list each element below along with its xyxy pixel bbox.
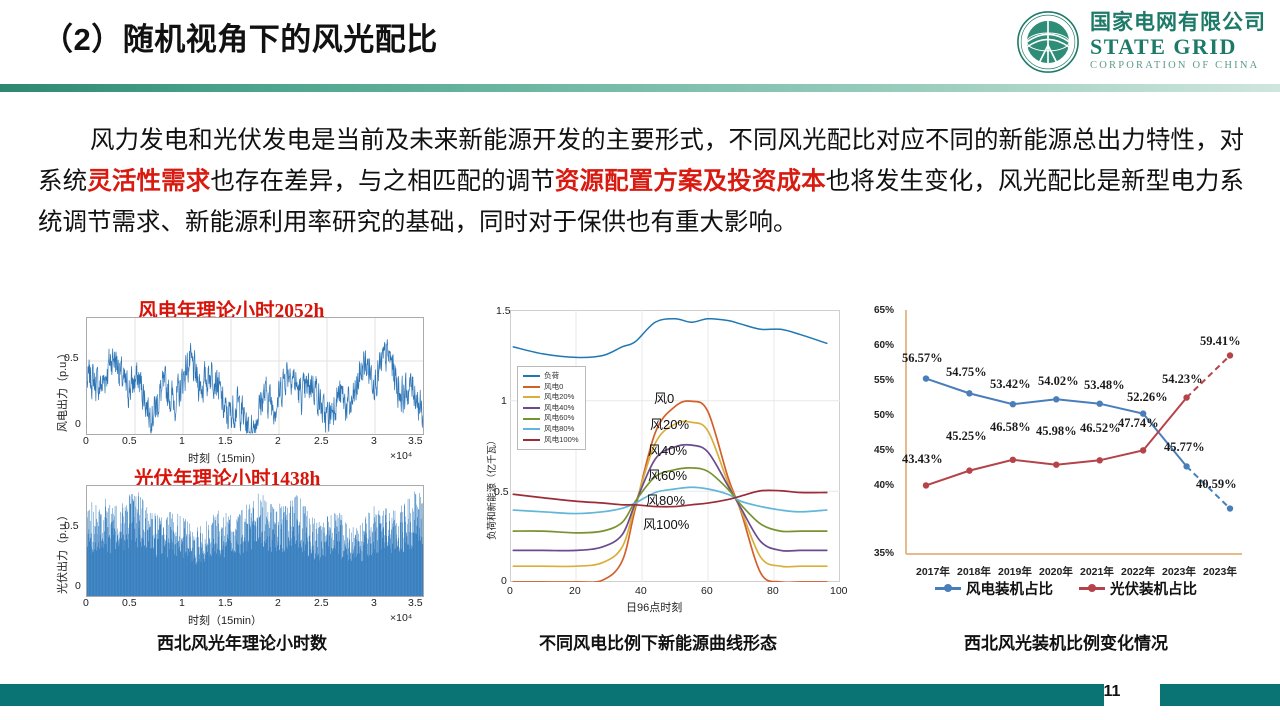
fig3-pv-label-4: 46.52% — [1080, 421, 1121, 436]
fig1-pv-ytick-0: 0 — [75, 580, 81, 592]
figure-newenergy-curve-shapes: 负荷和新能源（亿千瓦） 1.5 1 0.5 0 0 20 40 60 80 10… — [468, 292, 848, 662]
fig3-ytick-65: 65% — [874, 305, 894, 316]
legend-swatch-wind20 — [523, 396, 540, 398]
fig2-annotation-2: 风40% — [648, 440, 687, 459]
fig1-pv-xtick-0: 0 — [83, 597, 89, 609]
fig3-xcat-2: 2019年 — [998, 564, 1032, 579]
fig3-legend-item-wind: 风电装机占比 — [935, 578, 1053, 599]
paragraph-highlight-1: 灵活性需求 — [87, 168, 210, 195]
fig1-wind-plot-area — [86, 317, 424, 435]
fig2-annotation-0: 风0 — [654, 388, 674, 407]
fig1-pv-xlabel: 时刻（15min） — [188, 612, 262, 628]
figure-northwest-annual-hours: 风电年理论小时2052h 风电出力（p.u.） 0.5 0 0 0.5 — [42, 292, 442, 662]
fig1-wind-xtick-3: 1.5 — [218, 435, 233, 447]
fig1-pv-series — [87, 486, 423, 596]
logo-company-en: STATE GRID — [1090, 36, 1266, 58]
legend-label-wind60: 风电60% — [544, 413, 574, 424]
paragraph-highlight-3: 资源配置方案及投资成本 — [555, 168, 826, 195]
fig1-pv-xtick-3: 1.5 — [218, 597, 233, 609]
legend-label-wind40: 风电40% — [544, 403, 574, 414]
fig3-ytick-55: 55% — [874, 375, 894, 386]
fig1-pv-xtick-1: 0.5 — [122, 597, 137, 609]
fig1-pv-xtick-4: 2 — [275, 597, 281, 609]
fig2-legend-item-6: 风电100% — [523, 435, 579, 446]
fig2-legend-item-2: 风电20% — [523, 392, 579, 403]
fig2-legend: 负荷 风电0 风电20% 风电40% 风电60% 风电80% — [517, 366, 586, 450]
fig3-pv-label-6: 54.23% — [1162, 372, 1203, 387]
body-paragraph: 风力发电和光伏发电是当前及未来新能源开发的主要形式，不同风光配比对应不同的新能源… — [38, 120, 1244, 243]
fig1-wind-xtick-0: 0 — [83, 435, 89, 447]
fig1-wind-ytick-0_5: 0.5 — [64, 352, 79, 364]
legend-dot-wind-share — [944, 584, 952, 592]
fig3-legend-label-pv: 光伏装机占比 — [1110, 578, 1197, 599]
fig2-caption: 不同风电比例下新能源曲线形态 — [468, 629, 848, 654]
fig3-marker-风电装机占比-7 — [1227, 505, 1233, 511]
footer-bar-right — [1160, 684, 1280, 706]
legend-label-wind80: 风电80% — [544, 424, 574, 435]
fig2-legend-item-5: 风电80% — [523, 424, 579, 435]
fig1-wind-xtick-7: 3.5 — [408, 435, 423, 447]
footer: 11 — [0, 684, 1280, 706]
logo-company-sub: CORPORATION OF CHINA — [1090, 61, 1266, 72]
fig3-marker-风电装机占比-4 — [1097, 400, 1103, 406]
fig2-xtick-80: 80 — [767, 585, 779, 597]
fig3-xcat-5: 2022年 — [1121, 564, 1155, 579]
fig2-ytick-0: 0 — [501, 575, 507, 587]
header-divider — [0, 84, 1280, 92]
fig1-wind-ytick-0: 0 — [75, 418, 81, 430]
figure-installed-capacity-share: 65% 60% 55% 50% 45% 40% 35% 2017年 2018年 … — [866, 292, 1266, 662]
fig1-pv-ytick-0_5: 0.5 — [64, 520, 79, 532]
fig3-legend-label-wind: 风电装机占比 — [966, 578, 1053, 599]
fig3-xcat-6: 2023年 — [1162, 564, 1196, 579]
fig1-wind-xtick-1: 0.5 — [122, 435, 137, 447]
fig2-xtick-40: 40 — [635, 585, 647, 597]
fig1-pv-xtick-6: 3 — [371, 597, 377, 609]
legend-label-load: 负荷 — [544, 371, 559, 382]
fig1-wind-x-exponent: ×10⁴ — [390, 450, 412, 462]
fig3-marker-光伏装机占比-7 — [1227, 352, 1233, 358]
legend-swatch-load — [523, 375, 540, 377]
fig3-wind-label-4: 53.48% — [1084, 378, 1125, 393]
fig3-marker-风电装机占比-2 — [1010, 401, 1016, 407]
fig1-pv-x-exponent: ×10⁴ — [390, 612, 412, 624]
paragraph-run-2: 也存在差异，与之相匹配的调节 — [210, 168, 555, 195]
legend-label-wind20: 风电20% — [544, 392, 574, 403]
fig2-ytick-1: 1 — [501, 395, 507, 407]
fig2-annotation-3: 风60% — [648, 465, 687, 484]
fig3-marker-光伏装机占比-1 — [966, 467, 972, 473]
fig3-legend-item-pv: 光伏装机占比 — [1079, 578, 1197, 599]
fig1-wind-xtick-6: 3 — [371, 435, 377, 447]
fig3-marker-风电装机占比-6 — [1183, 463, 1189, 469]
fig3-pv-label-1: 45.25% — [946, 429, 987, 444]
legend-swatch-wind0 — [523, 386, 540, 388]
state-grid-logo: 国家电网有限公司 STATE GRID CORPORATION OF CHINA — [1016, 6, 1266, 78]
fig3-marker-风电装机占比-3 — [1053, 396, 1059, 402]
fig3-pv-label-5: 47.74% — [1118, 416, 1159, 431]
fig3-pv-label-0: 43.43% — [902, 452, 943, 467]
fig3-pv-label-7: 59.41% — [1200, 334, 1241, 349]
logo-company-cn: 国家电网有限公司 — [1090, 12, 1266, 33]
fig3-ytick-60: 60% — [874, 340, 894, 351]
fig2-legend-item-1: 风电0 — [523, 382, 579, 393]
legend-label-wind100: 风电100% — [544, 435, 579, 446]
fig2-xtick-60: 60 — [701, 585, 713, 597]
fig2-annotation-5: 风100% — [643, 514, 689, 533]
fig3-wind-label-6: 45.77% — [1164, 440, 1205, 455]
fig3-wind-label-7: 40.59% — [1196, 477, 1237, 492]
fig3-ytick-40: 40% — [874, 480, 894, 491]
fig2-xtick-0: 0 — [507, 585, 513, 597]
fig1-pv-xtick-2: 1 — [179, 597, 185, 609]
fig3-marker-风电装机占比-1 — [966, 390, 972, 396]
fig3-wind-label-2: 53.42% — [990, 377, 1031, 392]
fig1-wind-xtick-4: 2 — [275, 435, 281, 447]
fig3-marker-风电装机占比-0 — [923, 375, 929, 381]
fig2-legend-item-3: 风电40% — [523, 403, 579, 414]
legend-swatch-wind100 — [523, 439, 540, 441]
fig1-wind-series — [87, 318, 423, 434]
fig2-annotation-4: 风80% — [646, 490, 685, 509]
fig1-pv-plot-area — [86, 485, 424, 597]
fig3-legend: 风电装机占比 光伏装机占比 — [866, 578, 1266, 599]
fig3-marker-光伏装机占比-5 — [1140, 447, 1146, 453]
fig1-wind-xtick-2: 1 — [179, 435, 185, 447]
legend-swatch-wind80 — [523, 428, 540, 430]
fig3-marker-光伏装机占比-0 — [923, 482, 929, 488]
legend-label-wind0: 风电0 — [544, 382, 563, 393]
legend-swatch-wind40 — [523, 407, 540, 409]
fig2-xtick-100: 100 — [830, 585, 848, 597]
legend-swatch-wind60 — [523, 418, 540, 420]
fig3-marker-光伏装机占比-3 — [1053, 461, 1059, 467]
fig3-wind-label-5: 52.26% — [1127, 390, 1168, 405]
fig3-pv-label-3: 45.98% — [1036, 424, 1077, 439]
fig1-wind-xtick-5: 2.5 — [314, 435, 329, 447]
fig2-ytick-1_5: 1.5 — [496, 305, 511, 317]
fig1-pv-xtick-5: 2.5 — [314, 597, 329, 609]
fig3-xcat-3: 2020年 — [1039, 564, 1073, 579]
fig2-ytick-0_5: 0.5 — [494, 486, 509, 498]
fig3-ytick-45: 45% — [874, 445, 894, 456]
page-title: （2）随机视角下的风光配比 — [42, 14, 438, 59]
fig3-ytick-50: 50% — [874, 410, 894, 421]
fig3-marker-光伏装机占比-4 — [1097, 457, 1103, 463]
fig3-wind-label-1: 54.75% — [946, 365, 987, 380]
fig3-ytick-35: 35% — [874, 548, 894, 559]
legend-dot-pv-share — [1088, 584, 1096, 592]
fig2-legend-item-4: 风电60% — [523, 413, 579, 424]
fig3-caption: 西北风光装机比例变化情况 — [866, 629, 1266, 654]
page-number: 11 — [1082, 683, 1142, 701]
fig3-xcat-7: 2023年 — [1203, 564, 1237, 579]
fig1-caption: 西北风光年理论小时数 — [42, 629, 442, 654]
fig3-wind-label-0: 56.57% — [902, 351, 943, 366]
footer-bar-left — [0, 684, 1104, 706]
fig2-xlabel: 日96点时刻 — [626, 599, 682, 615]
figures-row: 风电年理论小时2052h 风电出力（p.u.） 0.5 0 0 0.5 — [0, 292, 1280, 662]
fig2-xtick-20: 20 — [569, 585, 581, 597]
legend-swatch-wind-share — [935, 587, 961, 590]
fig3-xcat-1: 2018年 — [957, 564, 991, 579]
legend-swatch-pv-share — [1079, 587, 1105, 590]
fig3-pv-label-2: 46.58% — [990, 420, 1031, 435]
fig3-marker-光伏装机占比-2 — [1010, 457, 1016, 463]
fig2-legend-item-0: 负荷 — [523, 371, 579, 382]
fig3-marker-光伏装机占比-6 — [1183, 394, 1189, 400]
slide-header: （2）随机视角下的风光配比 国家电网有限公司 STATE GRID CORPOR… — [0, 0, 1280, 92]
fig3-xcat-0: 2017年 — [916, 564, 950, 579]
fig1-pv-xtick-7: 3.5 — [408, 597, 423, 609]
state-grid-seal-icon — [1016, 10, 1080, 74]
fig3-xcat-4: 2021年 — [1080, 564, 1114, 579]
slide: （2）随机视角下的风光配比 国家电网有限公司 STATE GRID CORPOR… — [0, 0, 1280, 720]
fig3-wind-label-3: 54.02% — [1038, 374, 1079, 389]
fig2-annotation-1: 风20% — [650, 414, 689, 433]
